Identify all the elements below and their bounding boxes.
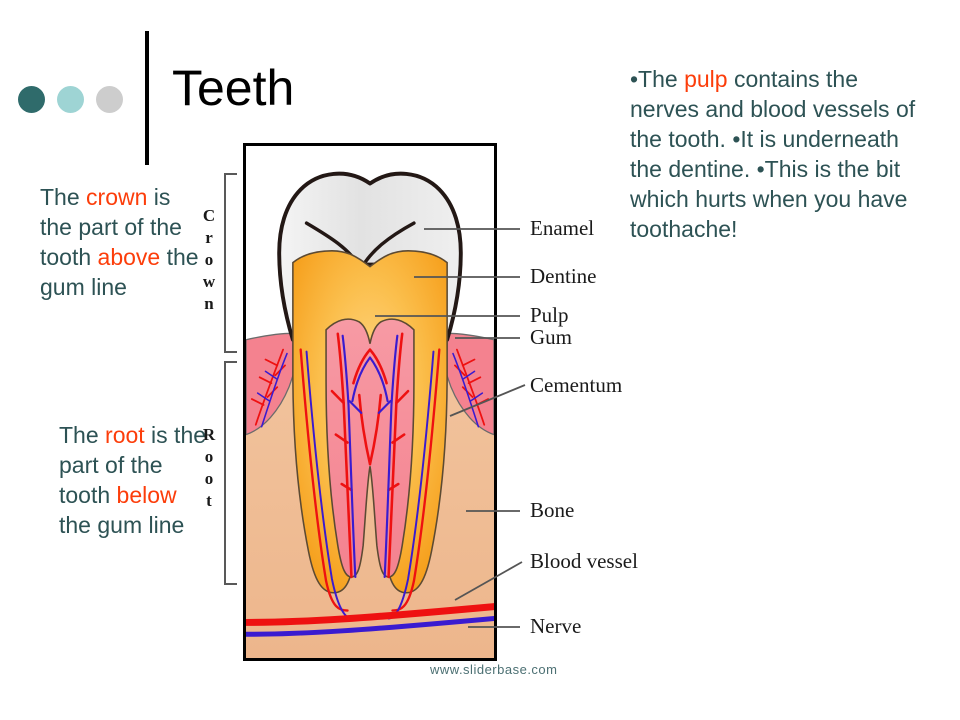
label-gum: Gum — [530, 327, 572, 348]
tooth-cross-section-illustration — [246, 146, 494, 658]
label-cementum: Cementum — [530, 375, 622, 396]
pulp-bullet-1-run-1: •The — [630, 66, 684, 92]
crown-bracket — [224, 173, 237, 353]
crown-bracket-label: C r o w n — [198, 205, 220, 315]
label-dentine: Dentine — [530, 266, 596, 287]
root-letter-1: o — [198, 446, 220, 468]
page-title: Teeth — [172, 63, 294, 113]
tooth-diagram-figure — [243, 143, 497, 661]
root-text-run-1: The — [59, 422, 105, 448]
crown-letter-0: C — [198, 205, 220, 227]
watermark: www.sliderbase.com — [430, 662, 558, 677]
crown-letter-2: o — [198, 249, 220, 271]
root-bracket — [224, 361, 237, 585]
title-divider — [145, 31, 149, 165]
crown-text-highlight-crown: crown — [86, 184, 147, 210]
pulp-bullet-1-highlight: pulp — [684, 66, 727, 92]
root-text-highlight-root: root — [105, 422, 145, 448]
crown-letter-1: r — [198, 227, 220, 249]
root-letter-0: R — [198, 424, 220, 446]
root-text-highlight-below: below — [117, 482, 177, 508]
decorative-dot-dark — [18, 86, 45, 113]
label-blood-vessel: Blood vessel — [530, 551, 638, 572]
label-enamel: Enamel — [530, 218, 594, 239]
decorative-dot-light — [57, 86, 84, 113]
root-bracket-label: R o o t — [198, 424, 220, 512]
decorative-dot-gray — [96, 86, 123, 113]
root-letter-3: t — [198, 490, 220, 512]
label-pulp: Pulp — [530, 305, 569, 326]
root-text-run-3: the gum line — [59, 512, 184, 538]
label-bone: Bone — [530, 500, 574, 521]
crown-text-highlight-above: above — [98, 244, 161, 270]
root-description-text: The root is the part of the tooth below … — [59, 420, 209, 540]
crown-letter-3: w — [198, 271, 220, 293]
root-letter-2: o — [198, 468, 220, 490]
pulp-bullet-list: •The pulp contains the nerves and blood … — [630, 64, 920, 244]
label-nerve: Nerve — [530, 616, 581, 637]
crown-text-run-1: The — [40, 184, 86, 210]
crown-description-text: The crown is the part of the tooth above… — [40, 182, 205, 302]
crown-letter-4: n — [198, 293, 220, 315]
